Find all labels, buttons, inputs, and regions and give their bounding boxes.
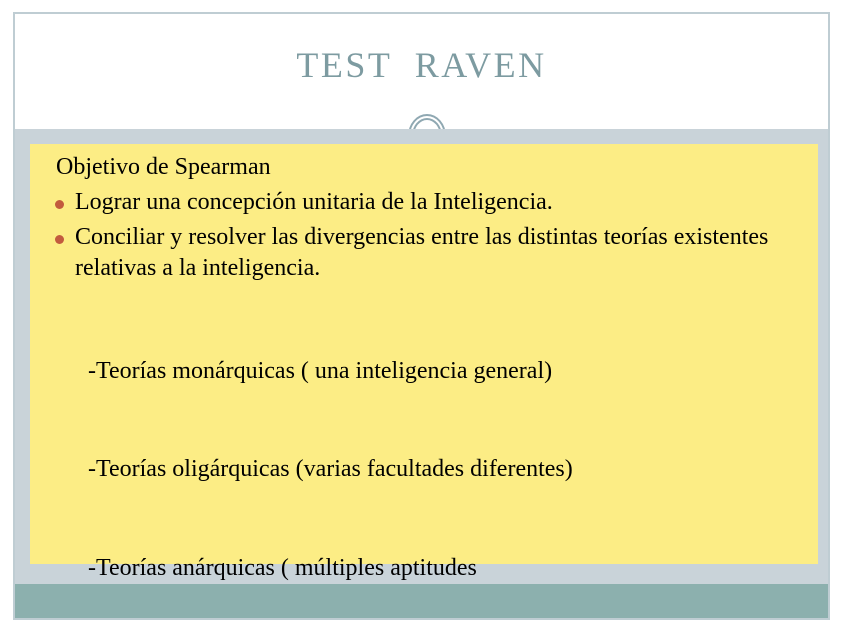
content-heading: Objetivo de Spearman [56,152,804,183]
bullet-text: Conciliar y resolver las divergencias en… [75,222,804,283]
bullet-dot-icon [55,200,64,209]
dash-item-text: -Teorías anárquicas ( múltiples aptitude… [88,555,477,581]
list-item: Lograr una concepción unitaria de la Int… [44,187,804,218]
paragraph-spacer [44,285,804,319]
list-item: -Teorías monárquicas ( una inteligencia … [52,324,804,418]
bullet-dot-icon [55,235,64,244]
dash-item-text: -Teorías monárquicas ( una inteligencia … [88,358,552,384]
slide-header: TEST RAVEN [15,14,828,129]
page-title: TEST RAVEN [15,47,828,83]
list-item: -Teorías anárquicas ( múltiples aptitude… [52,521,804,620]
list-item: -Teorías oligárquicas (varias facultades… [52,423,804,517]
dash-item-continuation: independientes) [74,615,804,620]
slide: TEST RAVEN Objetivo de Spearman Lograr u… [13,12,830,620]
content-card: Objetivo de Spearman Lograr una concepci… [30,144,818,564]
bullet-text: Lograr una concepción unitaria de la Int… [75,187,804,218]
dash-item-text: -Teorías oligárquicas (varias facultades… [88,456,573,482]
list-item: Conciliar y resolver las divergencias en… [44,222,804,283]
